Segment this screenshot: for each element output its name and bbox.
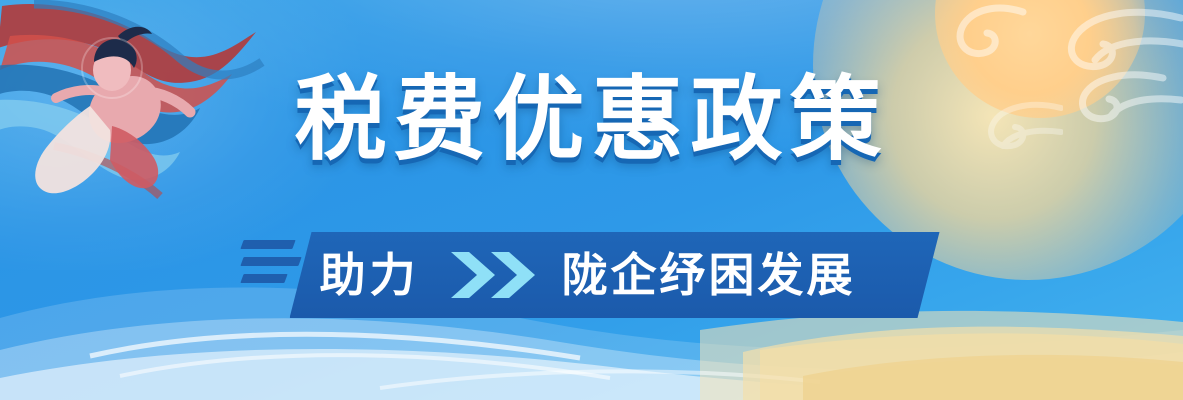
double-chevron-right-icon <box>447 250 547 300</box>
speed-lines-icon <box>242 240 302 308</box>
promo-banner: 税费优惠政策 助力 陇企纾困发展 <box>0 0 1183 400</box>
ribbon-label-right: 陇企纾困发展 <box>562 246 856 304</box>
page-title: 税费优惠政策 <box>0 74 1183 166</box>
subtitle-ribbon: 助力 陇企纾困发展 <box>242 232 942 318</box>
ribbon-label-left: 助力 <box>320 246 420 304</box>
